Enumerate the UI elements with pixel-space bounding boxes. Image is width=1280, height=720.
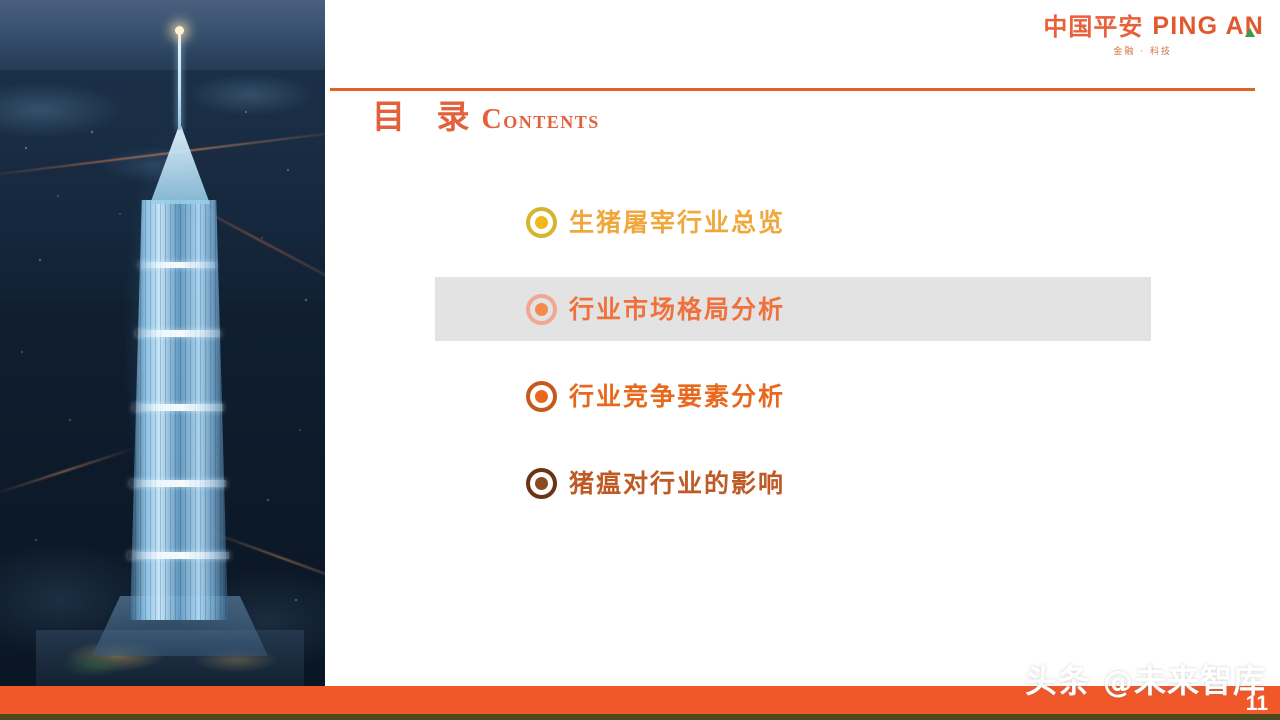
- photo-spire-light: [175, 26, 184, 35]
- toc-item-2-label: 行业市场格局分析: [569, 297, 785, 322]
- photo-tower-band: [139, 262, 215, 268]
- brand-logo: 中国平安 PING AN 金融 · 科技: [1043, 14, 1264, 57]
- target-circle-dot: [535, 390, 548, 403]
- photo-tower-band: [128, 552, 229, 559]
- logo-english-name: PING AN: [1152, 14, 1264, 39]
- hero-photo: [0, 0, 325, 692]
- page-title-english-rest: ONTENTS: [503, 112, 600, 132]
- page-title-chinese: 目 录: [372, 100, 480, 133]
- toc-item-1[interactable]: 生猪屠宰行业总览: [435, 190, 1151, 254]
- photo-tower-band: [133, 404, 223, 411]
- page-number: 11: [1246, 693, 1268, 714]
- target-circle-dot: [535, 477, 548, 490]
- footer-bottom-strip: [0, 714, 1280, 720]
- logo-chinese-name: 中国平安: [1043, 15, 1143, 39]
- slide-canvas: 中国平安 PING AN 金融 · 科技 目 录 CONTENTS 生猪屠宰行业…: [0, 0, 1280, 720]
- photo-tower-band: [130, 480, 226, 487]
- toc-item-1-label: 生猪屠宰行业总览: [569, 210, 785, 235]
- footer-bar: [0, 686, 1280, 714]
- page-title-english: CONTENTS: [482, 106, 600, 134]
- contents-list: 生猪屠宰行业总览 行业市场格局分析 行业竞争要素分析 猪瘟对行业的影响: [435, 190, 1151, 538]
- target-circle-icon: [526, 207, 557, 238]
- toc-item-4-label: 猪瘟对行业的影响: [569, 471, 785, 496]
- header-divider: [330, 88, 1255, 91]
- target-circle-icon: [526, 468, 557, 499]
- page-title-english-cap: C: [482, 104, 504, 135]
- target-circle-dot: [535, 216, 548, 229]
- target-circle-icon: [526, 294, 557, 325]
- green-triangle-icon: [1245, 28, 1255, 37]
- target-circle-dot: [535, 303, 548, 316]
- toc-item-3[interactable]: 行业竞争要素分析: [435, 364, 1151, 428]
- photo-tower-spire: [178, 34, 181, 130]
- target-circle-icon: [526, 381, 557, 412]
- toc-item-2[interactable]: 行业市场格局分析: [435, 277, 1151, 341]
- logo-tagline: 金融 · 科技: [1043, 44, 1172, 57]
- photo-tower-band: [136, 330, 220, 337]
- toc-item-4[interactable]: 猪瘟对行业的影响: [435, 451, 1151, 515]
- logo-wordmark-row: 中国平安 PING AN: [1043, 14, 1264, 39]
- page-title: 目 录 CONTENTS: [372, 100, 600, 134]
- toc-item-3-label: 行业竞争要素分析: [569, 384, 785, 409]
